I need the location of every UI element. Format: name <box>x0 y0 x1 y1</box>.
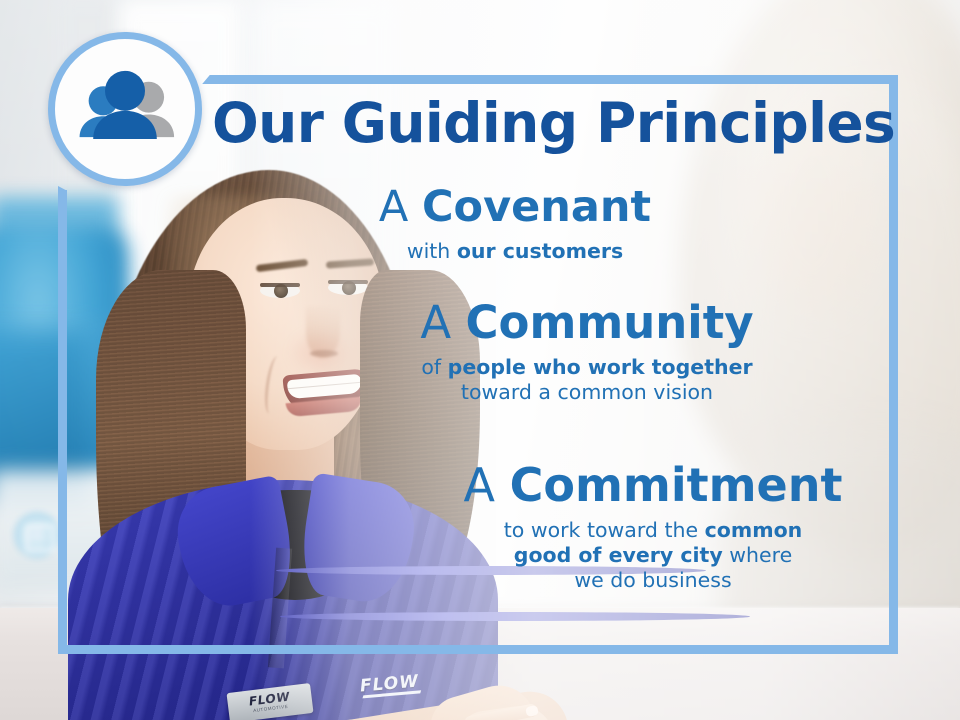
eye-left <box>260 283 300 298</box>
chest-logo: FLOW <box>359 671 420 696</box>
principle-word: Covenant <box>422 182 651 232</box>
guiding-principles-graphic: FLOW AUTOMOTIVE FLOW <box>0 0 960 720</box>
subtext-emphasis-2: good of every city <box>514 543 723 567</box>
subtext-lead: of <box>421 355 441 379</box>
subtext-emphasis: people who work together <box>448 355 753 379</box>
principle-word: Commitment <box>510 458 843 512</box>
principle-block-covenant: A Covenant with our customers <box>300 186 730 264</box>
principle-subtext: to work toward the common good of every … <box>418 518 888 593</box>
subtext-lead: to work toward the <box>504 518 698 542</box>
principle-heading: A Covenant <box>300 186 730 230</box>
people-group-icon <box>55 39 195 179</box>
subtext-emphasis: our customers <box>457 239 623 263</box>
teeth <box>287 374 362 399</box>
principle-subtext: with our customers <box>300 239 730 264</box>
subtext-tail: where <box>729 543 792 567</box>
principle-block-commitment: A Commitment to work toward the common g… <box>418 462 888 593</box>
eye-right <box>328 280 368 295</box>
principle-subtext: of people who work together toward a com… <box>352 355 822 405</box>
vehicle-logo-blur <box>14 512 60 558</box>
eyelash <box>260 283 300 287</box>
page-title: Our Guiding Principles <box>212 96 902 151</box>
subtext-emphasis: common <box>705 518 803 542</box>
principle-article: A <box>464 458 495 512</box>
principle-article: A <box>420 296 451 349</box>
principle-heading: A Commitment <box>418 462 888 509</box>
principle-word: Community <box>466 296 754 349</box>
principle-block-community: A Community of people who work together … <box>352 300 822 405</box>
subtext-tail: toward a common vision <box>461 380 713 404</box>
subtext-lead: with <box>407 239 451 263</box>
shirt-button <box>280 612 750 621</box>
eyelash <box>328 280 368 284</box>
people-badge <box>48 32 202 186</box>
subtext-tail-2: we do business <box>574 568 731 592</box>
principle-heading: A Community <box>352 300 822 346</box>
nostril <box>310 350 338 357</box>
principle-article: A <box>379 182 408 232</box>
